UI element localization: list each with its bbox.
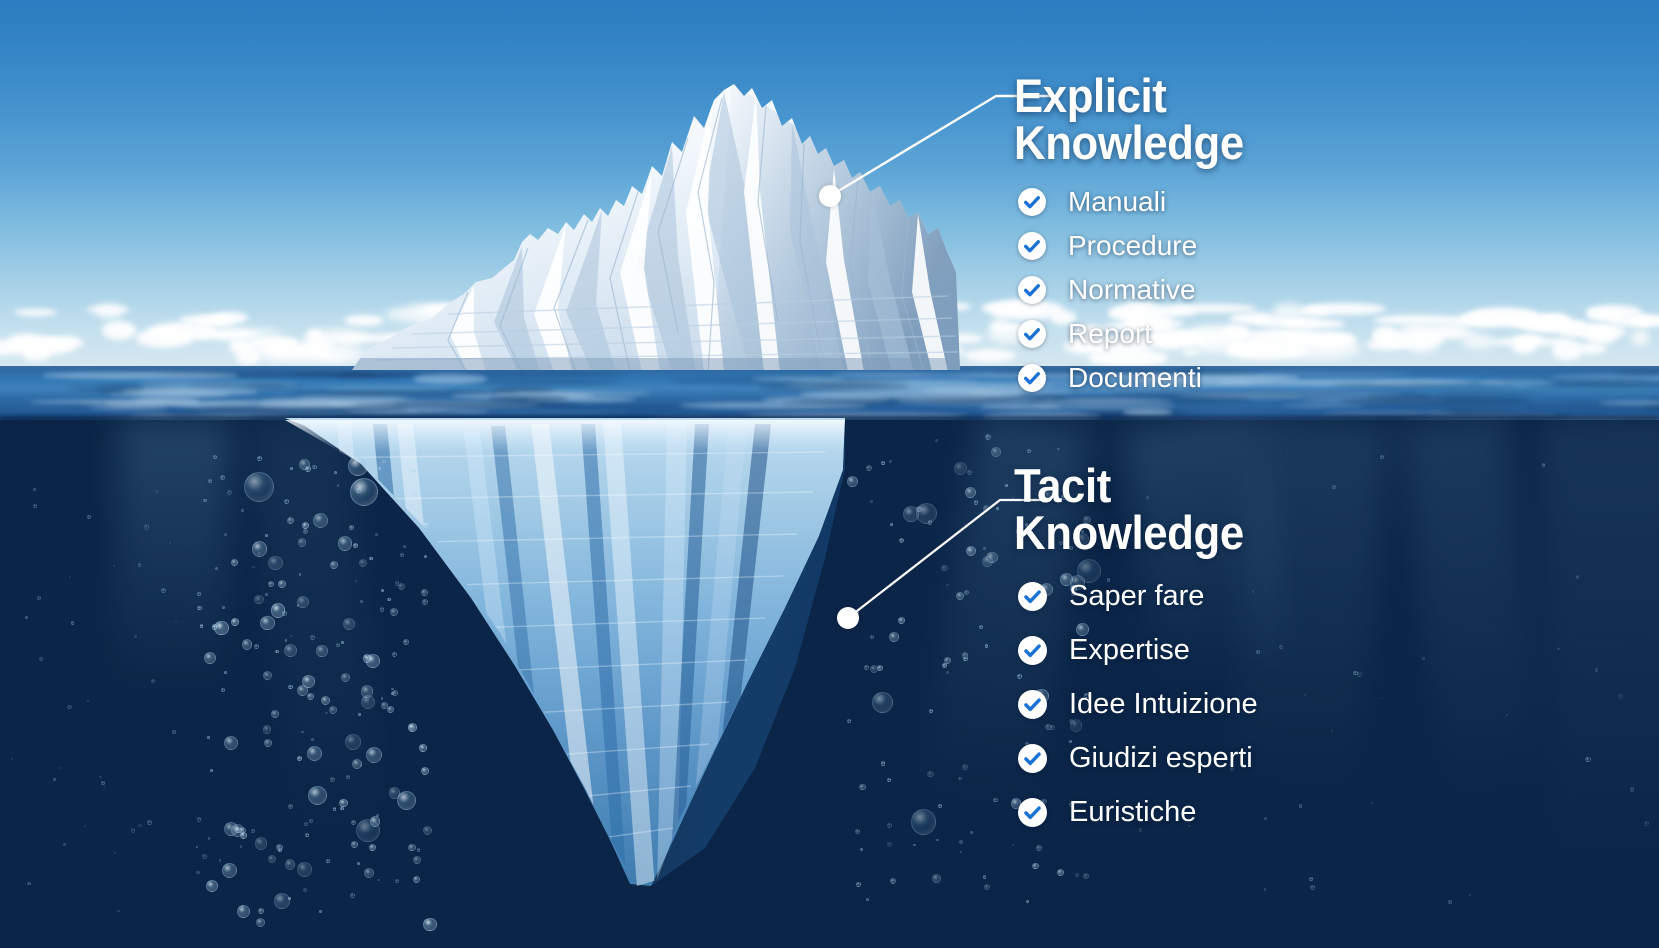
- iceberg-infographic: Explicit Knowledge Manuali: [0, 0, 1659, 948]
- list-item-label: Giudizi esperti: [1069, 742, 1253, 775]
- list-item[interactable]: Saper fare: [1018, 580, 1261, 613]
- check-circle-icon: [1018, 582, 1047, 611]
- check-circle-icon: [1018, 636, 1047, 665]
- check-circle-icon: [1018, 690, 1047, 719]
- panel-tacit: Tacit Knowledge Saper fare: [1014, 462, 1261, 850]
- list-item[interactable]: Giudizi esperti: [1018, 742, 1261, 775]
- leader-line-tacit: [0, 0, 1659, 948]
- list-item-label: Euristiche: [1069, 796, 1196, 829]
- tacit-list: Saper fare Expertise: [1018, 580, 1261, 829]
- tacit-title: Tacit Knowledge: [1014, 462, 1244, 556]
- check-circle-icon: [1018, 744, 1047, 773]
- list-item[interactable]: Expertise: [1018, 634, 1261, 667]
- list-item[interactable]: Idee Intuizione: [1018, 688, 1261, 721]
- list-item-label: Saper fare: [1069, 580, 1204, 613]
- check-circle-icon: [1018, 798, 1047, 827]
- list-item-label: Idee Intuizione: [1069, 688, 1258, 721]
- list-item-label: Expertise: [1069, 634, 1190, 667]
- list-item[interactable]: Euristiche: [1018, 796, 1261, 829]
- anchor-dot-icon-tacit: [837, 607, 859, 629]
